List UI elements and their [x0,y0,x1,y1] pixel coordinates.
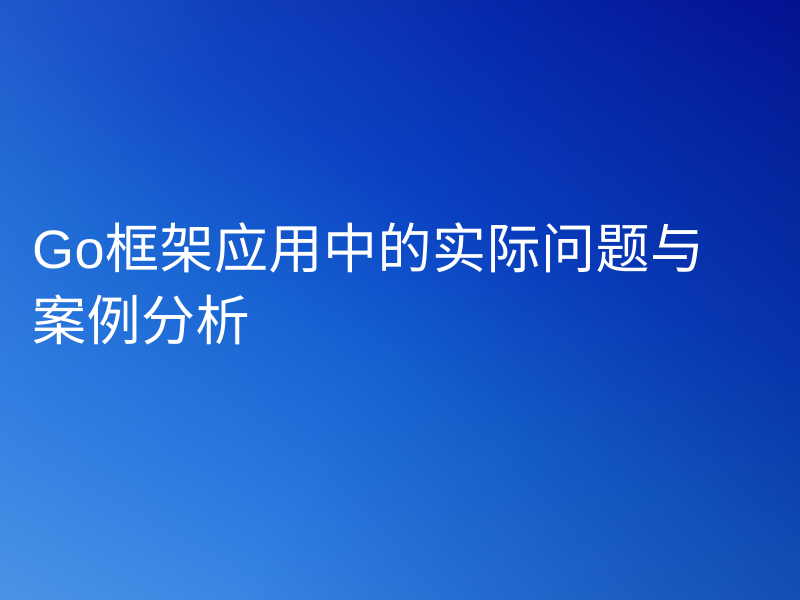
title-slide: Go框架应用中的实际问题与 案例分析 [0,0,800,600]
title-line-2: 案例分析 [32,286,784,358]
title-line-1: Go框架应用中的实际问题与 [32,214,784,286]
slide-title: Go框架应用中的实际问题与 案例分析 [32,214,784,358]
